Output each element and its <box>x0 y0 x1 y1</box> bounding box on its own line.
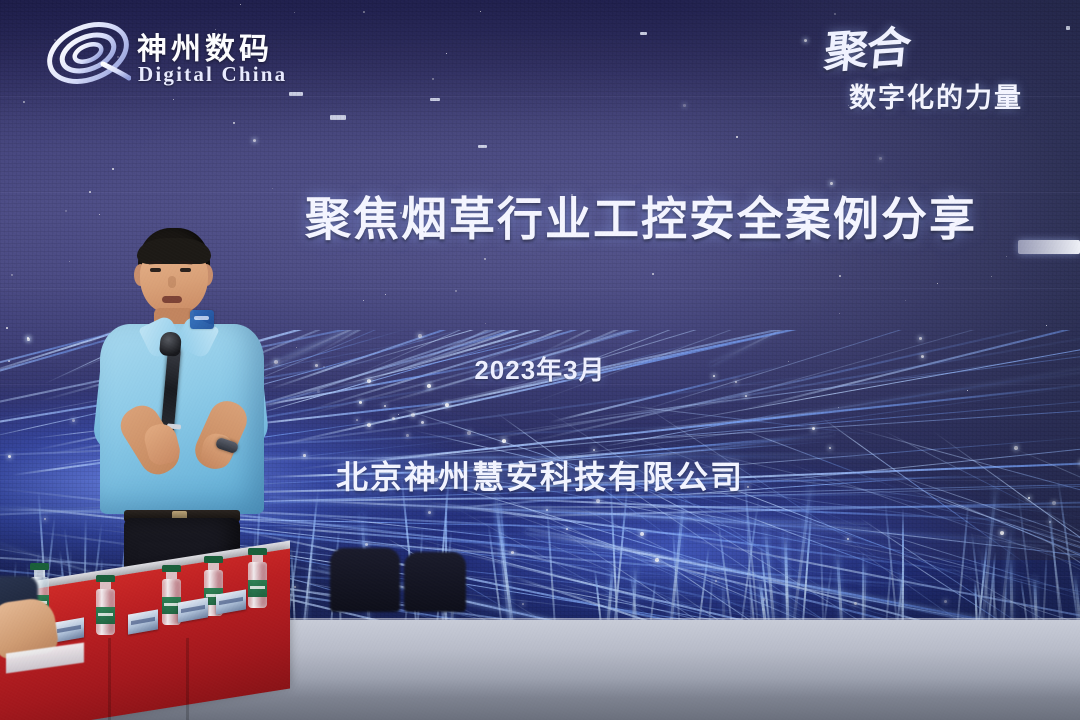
speaker-eye-right <box>180 268 191 272</box>
digital-china-logo: 神州数码 Digital China <box>45 16 315 92</box>
logo-english-text: Digital China <box>138 62 287 87</box>
brand-calligraphy: 聚合 <box>822 11 912 81</box>
microphone-head-icon <box>159 331 182 357</box>
bottle-cap <box>96 575 115 582</box>
event-brand-block: 聚合 数字化的力量 <box>815 14 1065 110</box>
bottle-cap <box>204 556 223 563</box>
screenshot-root: 神州数码 Digital China 聚合 数字化的力量 聚焦烟草行业工控安全案… <box>0 0 1080 720</box>
brand-subtitle: 数字化的力量 <box>849 76 1023 115</box>
tablecloth-fold-1 <box>108 638 111 720</box>
bottle-label <box>96 607 115 624</box>
bottle-neck <box>166 572 177 579</box>
audience-silhouette-1 <box>330 548 400 612</box>
screen-accent-bar <box>1018 240 1080 254</box>
slide-title: 聚焦烟草行业工控安全案例分享 <box>305 183 1019 249</box>
bottle-cap <box>30 563 49 570</box>
bottle-cap <box>162 565 181 572</box>
bottle-neck <box>208 563 219 570</box>
bottle-neck <box>252 555 263 562</box>
bottle-neck <box>100 582 111 589</box>
water-bottle <box>96 575 115 635</box>
speaker-eye-left <box>150 268 161 272</box>
bottle-cap <box>248 548 267 555</box>
bottle-label <box>248 580 267 597</box>
speaker-mouth <box>162 296 182 303</box>
shirt-chest-logo-icon <box>190 310 214 329</box>
water-bottle <box>248 548 267 608</box>
speaker-fringe <box>137 238 211 264</box>
bottle-neck <box>34 570 45 577</box>
tablecloth-fold-2 <box>186 638 189 720</box>
speaker-nose <box>168 276 176 288</box>
galaxy-swirl-icon <box>45 20 131 86</box>
audience-silhouette-2 <box>404 552 466 612</box>
